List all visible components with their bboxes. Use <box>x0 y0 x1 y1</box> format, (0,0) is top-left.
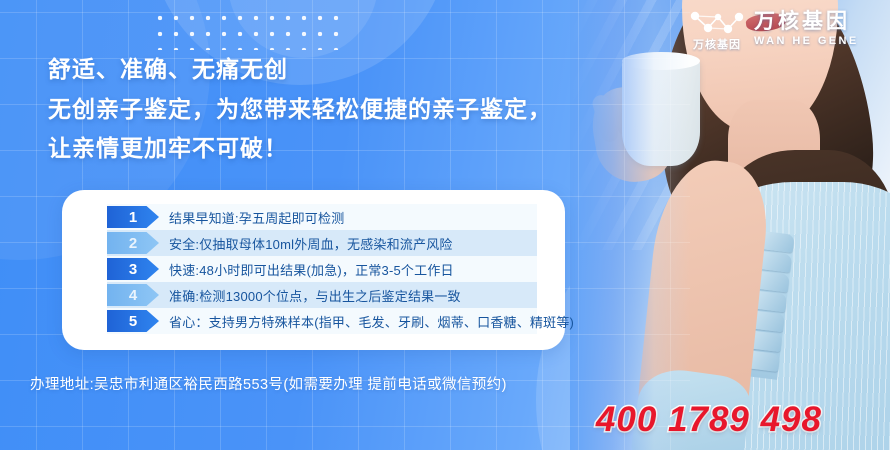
feature-text: 省心：支持男方特殊样本(指甲、毛发、牙刷、烟蒂、口香糖、精斑等) <box>169 312 574 331</box>
logo-wordmark: 万核基因 WAN HE GENE <box>754 11 859 48</box>
feature-list: 1 结果早知道:孕五周起即可检测 2 安全:仅抽取母体10ml外周血，无感染和流… <box>62 204 565 334</box>
feature-row: 3 快速:48小时即可出结果(加急)，正常3-5个工作日 <box>107 256 537 282</box>
brand-logo[interactable]: 万核基因 万核基因 WAN HE GENE <box>688 8 859 51</box>
headline-line-3: 让亲情更加牢不可破！ <box>48 129 552 169</box>
feature-row: 2 安全:仅抽取母体10ml外周血，无感染和流产风险 <box>107 230 537 256</box>
headline-block: 舒适、准确、无痛无创 无创亲子鉴定，为您带来轻松便捷的亲子鉴定， 让亲情更加牢不… <box>48 50 552 169</box>
logo-mark: 万核基因 <box>688 8 746 51</box>
headline-line-1: 舒适、准确、无痛无创 <box>48 50 552 90</box>
dot-pattern-top <box>152 10 342 50</box>
feature-number-badge: 2 <box>107 232 159 254</box>
feature-row: 5 省心：支持男方特殊样本(指甲、毛发、牙刷、烟蒂、口香糖、精斑等) <box>107 308 537 334</box>
feature-text: 结果早知道:孕五周起即可检测 <box>169 208 344 227</box>
feature-number-badge: 4 <box>107 284 159 306</box>
dna-molecule-icon <box>688 8 746 38</box>
feature-number-badge: 3 <box>107 258 159 280</box>
feature-text: 安全:仅抽取母体10ml外周血，无感染和流产风险 <box>169 234 453 253</box>
feature-row: 4 准确:检测13000个位点，与出生之后鉴定结果一致 <box>107 282 537 308</box>
feature-number-badge: 5 <box>107 310 159 332</box>
headline-line-2: 无创亲子鉴定，为您带来轻松便捷的亲子鉴定， <box>48 90 552 130</box>
hotline-phone-number[interactable]: 400 1789 498 <box>596 400 822 440</box>
photo-grid-overlay <box>570 0 690 450</box>
feature-card: 1 结果早知道:孕五周起即可检测 2 安全:仅抽取母体10ml外周血，无感染和流… <box>62 190 565 350</box>
address-text: 办理地址:吴忠市利通区裕民西路553号(如需要办理 提前电话或微信预约) <box>30 373 507 394</box>
logo-mark-text: 万核基因 <box>693 40 741 51</box>
promotional-banner: 万核基因 万核基因 WAN HE GENE 舒适、准确、无痛无创 无创亲子鉴定，… <box>0 0 890 450</box>
feature-text: 准确:检测13000个位点，与出生之后鉴定结果一致 <box>169 286 461 305</box>
feature-row: 1 结果早知道:孕五周起即可检测 <box>107 204 537 230</box>
feature-text: 快速:48小时即可出结果(加急)，正常3-5个工作日 <box>169 260 454 279</box>
logo-name-en: WAN HE GENE <box>754 36 859 48</box>
feature-number-badge: 1 <box>107 206 159 228</box>
model-photo <box>570 0 890 450</box>
logo-name-cn: 万核基因 <box>754 11 859 33</box>
